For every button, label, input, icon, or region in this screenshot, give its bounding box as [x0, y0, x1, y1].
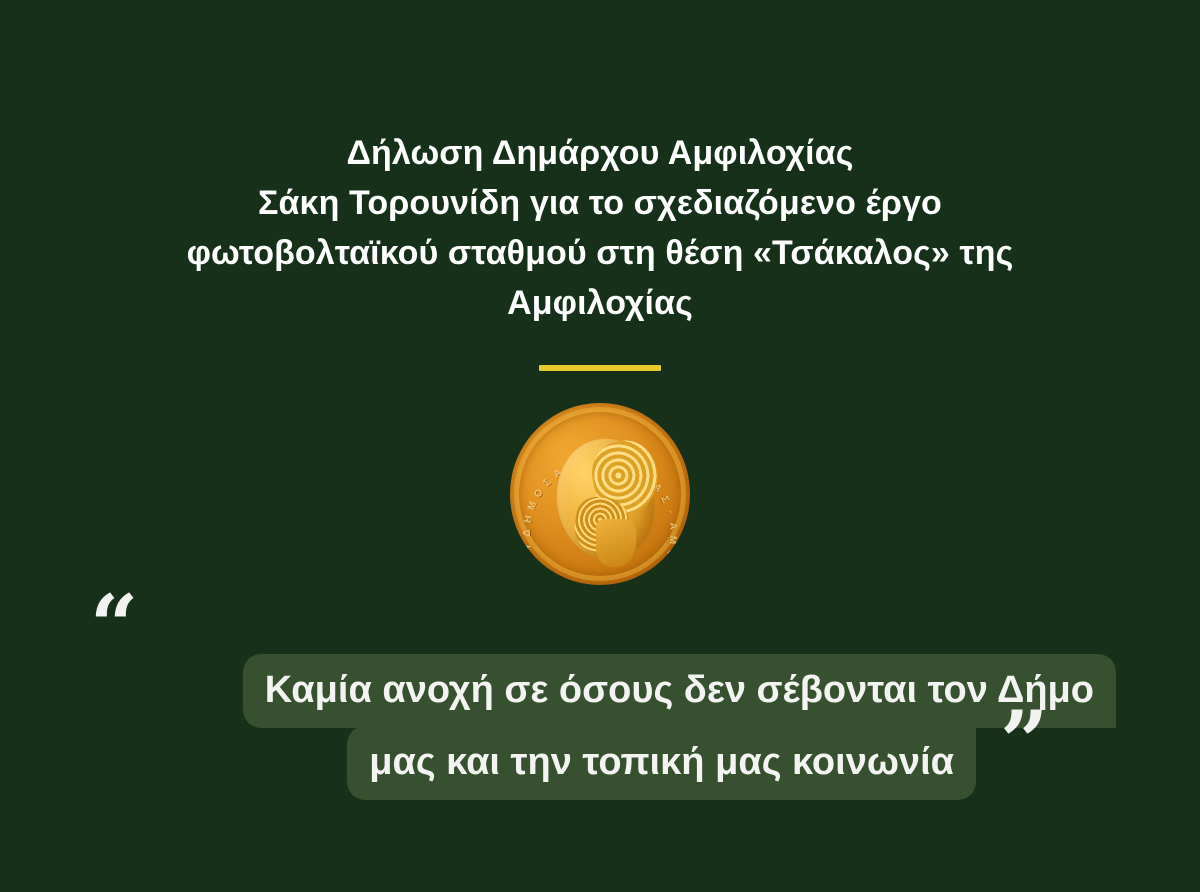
- title-line-1: Δήλωση Δημάρχου Αμφιλοχίας: [95, 128, 1105, 178]
- divider-container: [0, 365, 1200, 371]
- coin-neck: [596, 519, 636, 566]
- quote-row-1: Καμία ανοχή σε όσους δεν σέβονται τον Δή…: [0, 654, 1116, 726]
- poster-canvas: Δήλωση Δημάρχου Αμφιλοχίας Σάκη Τορουνίδ…: [0, 0, 1200, 892]
- title-line-4: Αμφιλοχίας: [95, 278, 1105, 328]
- page-title: Δήλωση Δημάρχου Αμφιλοχίας Σάκη Τορουνίδ…: [0, 128, 1200, 328]
- title-line-2: Σάκη Τορουνίδη για το σχεδιαζόμενο έργο: [95, 178, 1105, 228]
- accent-divider: [539, 365, 661, 371]
- municipal-coin-emblem: ΔΗΜΟΣΑΜΦΙΛΟΧΙΑΣ·ΑΜΦΙΛΟΧΟΥΟΑΡΓΕΙΟΥ: [510, 403, 690, 585]
- quote-row-2: μας και την τοπική μας κοινωνία: [0, 726, 1116, 800]
- quote-close-icon: ”: [1000, 700, 1048, 784]
- quote-line-1: Καμία ανοχή σε όσους δεν σέβονται τον Δή…: [243, 654, 1116, 728]
- title-line-3: φωτοβολταϊκού σταθμού στη θέση «Τσάκαλος…: [95, 228, 1105, 278]
- emblem-container: ΔΗΜΟΣΑΜΦΙΛΟΧΙΑΣ·ΑΜΦΙΛΟΧΟΥΟΑΡΓΕΙΟΥ: [0, 403, 1200, 585]
- quote-line-2: μας και την τοπική μας κοινωνία: [347, 726, 976, 800]
